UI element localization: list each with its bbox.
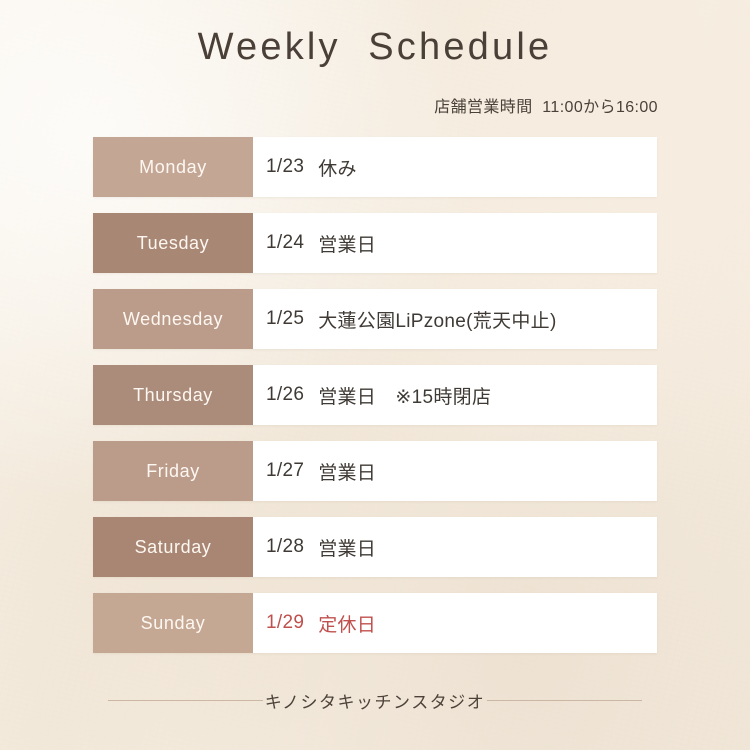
day-date: 1/28 — [266, 536, 304, 558]
day-info: 1/28営業日 — [253, 517, 657, 577]
day-info: 1/23休み — [253, 137, 657, 197]
day-label: Sunday — [93, 593, 253, 653]
day-info: 1/25大蓮公園LiPzone(荒天中止) — [253, 289, 657, 349]
day-label: Saturday — [93, 517, 253, 577]
weekly-schedule-poster: Weekly Schedule 店舗営業時間 11:00から16:00 Mond… — [0, 0, 750, 750]
schedule-row: Wednesday1/25大蓮公園LiPzone(荒天中止) — [93, 289, 657, 349]
schedule-row: Monday1/23休み — [93, 137, 657, 197]
day-date: 1/26 — [266, 384, 304, 406]
day-date: 1/23 — [266, 156, 304, 178]
footer-rule-right — [487, 700, 642, 701]
day-label: Friday — [93, 441, 253, 501]
day-label: Thursday — [93, 365, 253, 425]
footer: キノシタキッチンスタジオ — [0, 688, 750, 713]
schedule-row: Tuesday1/24営業日 — [93, 213, 657, 273]
day-date: 1/24 — [266, 232, 304, 254]
day-label: Tuesday — [93, 213, 253, 273]
day-date: 1/25 — [266, 308, 304, 330]
brand-name: キノシタキッチンスタジオ — [263, 688, 487, 713]
schedule-row: Thursday1/26営業日 ※15時閉店 — [93, 365, 657, 425]
business-hours-note: 店舗営業時間 11:00から16:00 — [434, 93, 658, 117]
day-info: 1/27営業日 — [253, 441, 657, 501]
schedule-row: Saturday1/28営業日 — [93, 517, 657, 577]
day-info: 1/29定休日 — [253, 593, 657, 653]
day-label: Monday — [93, 137, 253, 197]
day-note: 休み — [318, 154, 357, 181]
schedule-list: Monday1/23休みTuesday1/24営業日Wednesday1/25大… — [93, 137, 657, 669]
day-label: Wednesday — [93, 289, 253, 349]
day-date: 1/29 — [266, 612, 304, 634]
day-note: 営業日 — [318, 458, 376, 485]
day-note: 営業日 — [318, 534, 376, 561]
schedule-row: Sunday1/29定休日 — [93, 593, 657, 653]
schedule-row: Friday1/27営業日 — [93, 441, 657, 501]
day-note: 営業日 — [318, 230, 376, 257]
day-info: 1/26営業日 ※15時閉店 — [253, 365, 657, 425]
day-note: 大蓮公園LiPzone(荒天中止) — [318, 306, 556, 333]
day-date: 1/27 — [266, 460, 304, 482]
footer-rule-left — [108, 700, 263, 701]
day-note: 定休日 — [318, 610, 376, 637]
page-title: Weekly Schedule — [0, 26, 750, 69]
day-info: 1/24営業日 — [253, 213, 657, 273]
day-note: 営業日 ※15時閉店 — [318, 382, 491, 409]
